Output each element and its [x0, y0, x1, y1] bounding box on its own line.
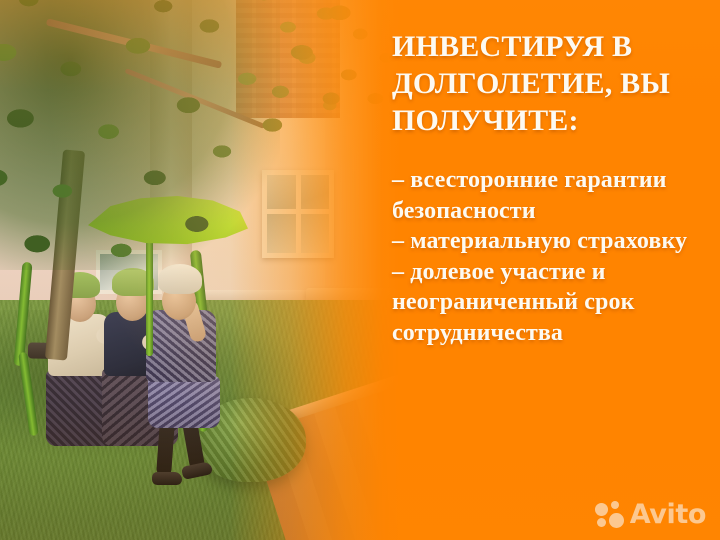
avito-watermark: Avito: [595, 501, 706, 528]
headline: ИНВЕСТИРУЯ В ДОЛГОЛЕТИЕ, ВЫ ПОЛУЧИТЕ:: [392, 28, 708, 139]
benefit-item-3: – долевое участие и неограниченный срок …: [392, 257, 708, 349]
background-photo: [0, 0, 430, 540]
shoe: [152, 472, 182, 485]
skirt: [148, 376, 220, 428]
benefit-item-2: – материальную страховку: [392, 226, 708, 257]
benefit-item-1: – всесторонние гарантии безопасности: [392, 165, 708, 226]
tree-foliage: [0, 0, 390, 290]
avito-circles-icon: [595, 501, 625, 528]
floral-dress: [146, 310, 216, 382]
advertisement-poster: ИНВЕСТИРУЯ В ДОЛГОЛЕТИЕ, ВЫ ПОЛУЧИТЕ: – …: [0, 0, 720, 540]
benefits-list: – всесторонние гарантии безопасности – м…: [392, 165, 708, 348]
avito-brand-text: Avito: [630, 501, 706, 528]
copy-block: ИНВЕСТИРУЯ В ДОЛГОЛЕТИЕ, ВЫ ПОЛУЧИТЕ: – …: [392, 28, 708, 348]
